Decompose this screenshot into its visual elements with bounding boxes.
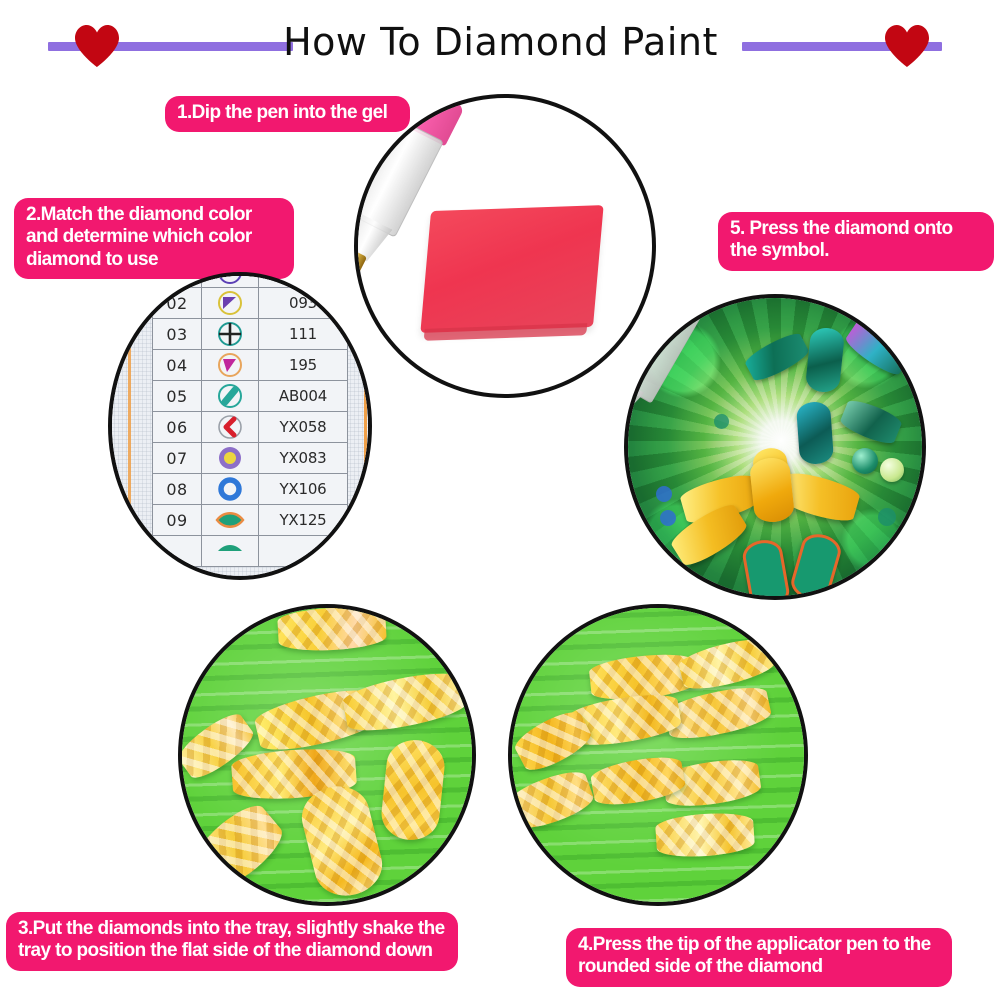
magenta-triangle-in-orange-circle-icon (202, 350, 259, 381)
printed-symbol-dot (714, 414, 729, 429)
photo-5-scene (628, 298, 922, 596)
chart-row-code (259, 536, 348, 567)
printed-symbol-dot (656, 486, 672, 502)
table-row: 02 093 (153, 288, 348, 319)
round-green-gem (852, 448, 878, 474)
chart-row-code: AB004 (259, 381, 348, 412)
gem-facets (277, 605, 387, 653)
purple-triangle-in-yellow-circle-icon (202, 288, 259, 319)
table-row: 03 111 (153, 319, 348, 350)
table-row: 08 YX106 (153, 474, 348, 505)
chart-row-number: 08 (153, 474, 202, 505)
diamonds-in-tray-photo (178, 604, 476, 906)
blue-ring-icon (202, 474, 259, 505)
step-5-label: 5. Press the diamond onto the symbol. (718, 212, 994, 271)
teal-slash-in-teal-circle-icon (202, 381, 259, 412)
pressing-diamond-onto-canvas-photo (624, 294, 926, 600)
photo-4-scene (512, 608, 804, 902)
printed-symbol-dot (878, 508, 896, 526)
step-2-label: 2.Match the diamond color and determine … (14, 198, 294, 279)
infographic-canvas: How To Diamond Paint 1.Dip the pen into … (0, 0, 1001, 1001)
chart-row-number: 02 (153, 288, 202, 319)
chart-row-code: 195 (259, 350, 348, 381)
green-marquise-orange-outline-icon (202, 505, 259, 536)
round-pale-gem (880, 458, 904, 482)
diamond-on-pen-tip (749, 456, 795, 524)
photo-3-scene (182, 608, 472, 902)
chart-row-number: 03 (153, 319, 202, 350)
chart-row-number: 07 (153, 443, 202, 474)
table-row: 09 YX125 (153, 505, 348, 536)
chart-row-code: YX106 (259, 474, 348, 505)
yellow-marquise-diamond (379, 737, 447, 843)
chart-row-number: 04 (153, 350, 202, 381)
gem-facets (379, 737, 447, 843)
color-chart-table-photo: 01 020 02 (108, 272, 372, 580)
photo-2-scene: 01 020 02 (112, 276, 368, 576)
table-row: 04 195 (153, 350, 348, 381)
black-plus-in-teal-circle-icon (202, 319, 259, 350)
red-chevron-in-grey-circle-icon (202, 412, 259, 443)
table-row (153, 536, 348, 567)
table-row: 07 YX083 (153, 443, 348, 474)
page-title: How To Diamond Paint (0, 20, 1001, 64)
yellow-marquise-diamond (655, 811, 756, 860)
table-row: 05 AB004 (153, 381, 348, 412)
yellow-dot-in-purple-ring-icon (202, 443, 259, 474)
pen-pink-ring (663, 294, 710, 303)
pen-dipping-into-gel-photo (354, 94, 656, 398)
chart-row-code: 111 (259, 319, 348, 350)
orange-guide-line-left (128, 272, 131, 580)
photo-1-scene (358, 98, 652, 394)
chart-row-code: YX083 (259, 443, 348, 474)
red-gel-pad (420, 205, 603, 333)
canvas-sheet: 01 020 02 (108, 272, 372, 580)
table-row: 06 YX058 (153, 412, 348, 443)
printed-symbol-dot (660, 510, 676, 526)
step-4-label: 4.Press the tip of the applicator pen to… (566, 928, 952, 987)
chart-row-number: 06 (153, 412, 202, 443)
partial-green-symbol-icon (202, 536, 259, 567)
chart-row-code: YX058 (259, 412, 348, 443)
chart-row-code: 093 (259, 288, 348, 319)
chart-row-code: YX125 (259, 505, 348, 536)
chart-row-number: 09 (153, 505, 202, 536)
color-chart-table: 01 020 02 (152, 272, 348, 567)
gem-facets (655, 811, 756, 860)
blue-green-marquise-gem (796, 401, 834, 465)
yellow-marquise-diamond (277, 605, 387, 653)
step-3-label: 3.Put the diamonds into the tray, slight… (6, 912, 458, 971)
pen-picking-up-diamond-photo (508, 604, 808, 906)
chart-row-number (153, 536, 202, 567)
chart-row-number: 05 (153, 381, 202, 412)
